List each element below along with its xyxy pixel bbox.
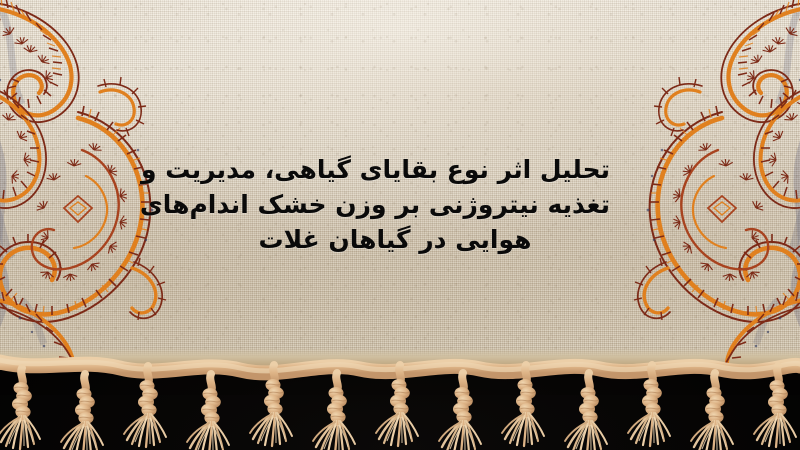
- knotted-tassel-fringe: [0, 352, 800, 450]
- tassel-row: [0, 365, 796, 450]
- title-line-2: تغذیه نیتروژنی بر وزن خشک اندام‌های: [180, 187, 610, 222]
- banner-title: تحلیل اثر نوع بقایای گیاهی، مدیریت و تغذ…: [180, 152, 610, 257]
- textile-title-banner: تحلیل اثر نوع بقایای گیاهی، مدیریت و تغذ…: [0, 0, 800, 450]
- title-line-3: هوایی در گیاهان غلات: [180, 222, 610, 257]
- title-line-1: تحلیل اثر نوع بقایای گیاهی، مدیریت و: [180, 152, 610, 187]
